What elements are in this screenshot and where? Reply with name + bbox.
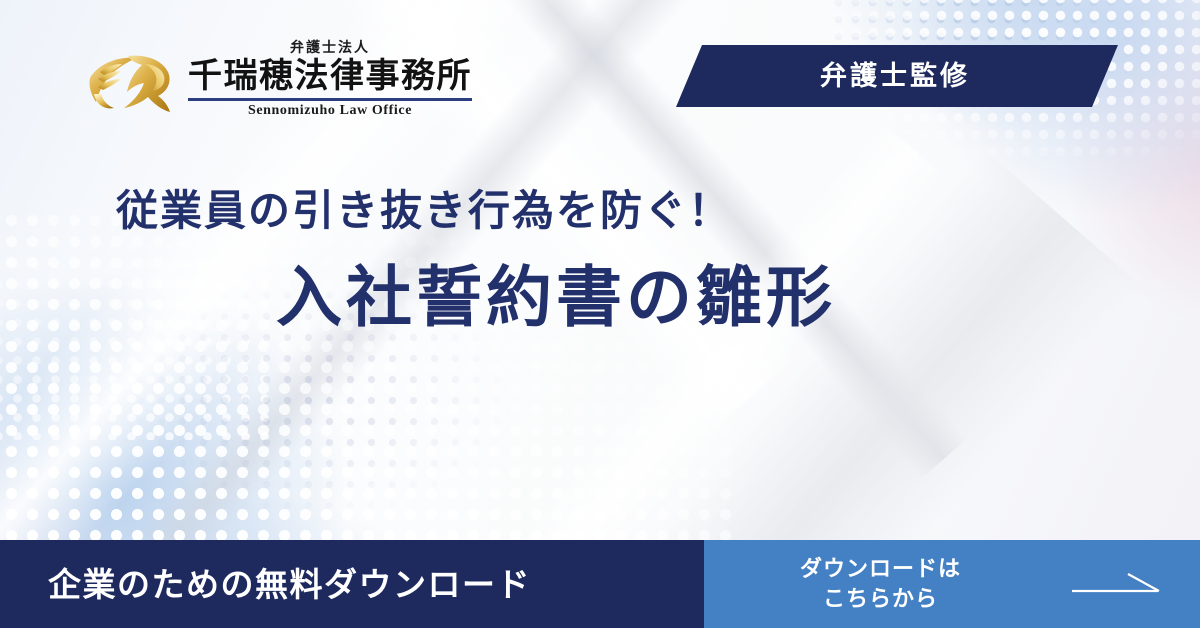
- subtitle: 従業員の引き抜き行為を防ぐ！: [0, 186, 1200, 236]
- brand-logo: 弁護士法人 千瑞穂法律事務所 Sennomizuho Law Office: [84, 42, 472, 118]
- status-badge-label: 弁護士監修: [820, 63, 970, 90]
- brand-logo-text: 弁護士法人 千瑞穂法律事務所 Sennomizuho Law Office: [188, 42, 472, 118]
- page-title: 入社誓約書の雛形: [0, 258, 1200, 337]
- long-arrow-right-icon: [1072, 569, 1164, 599]
- footer-left-panel: 企業のための無料ダウンロード: [0, 540, 704, 628]
- promotional-banner: 弁護士法人 千瑞穂法律事務所 Sennomizuho Law Office 弁護…: [0, 0, 1200, 628]
- headline-group: 従業員の引き抜き行為を防ぐ！ 入社誓約書の雛形: [0, 186, 1200, 337]
- rice-ear-emblem-icon: [84, 44, 176, 116]
- download-cta-line-2: こちらから: [800, 584, 961, 614]
- brand-name-ja: 千瑞穂法律事務所: [188, 59, 472, 95]
- brand-entity-type: 弁護士法人: [290, 42, 370, 56]
- brand-name-en: Sennomizuho Law Office: [248, 103, 412, 118]
- footer-left-label: 企業のための無料ダウンロード: [0, 568, 531, 601]
- status-badge: 弁護士監修: [676, 45, 1118, 107]
- brand-divider: [188, 98, 472, 101]
- download-cta-line-1: ダウンロードは: [800, 556, 961, 581]
- download-cta-button[interactable]: ダウンロードは こちらから: [704, 540, 1200, 628]
- footer-bar: 企業のための無料ダウンロード ダウンロードは こちらから: [0, 540, 1200, 628]
- download-cta-label: ダウンロードは こちらから: [704, 554, 961, 613]
